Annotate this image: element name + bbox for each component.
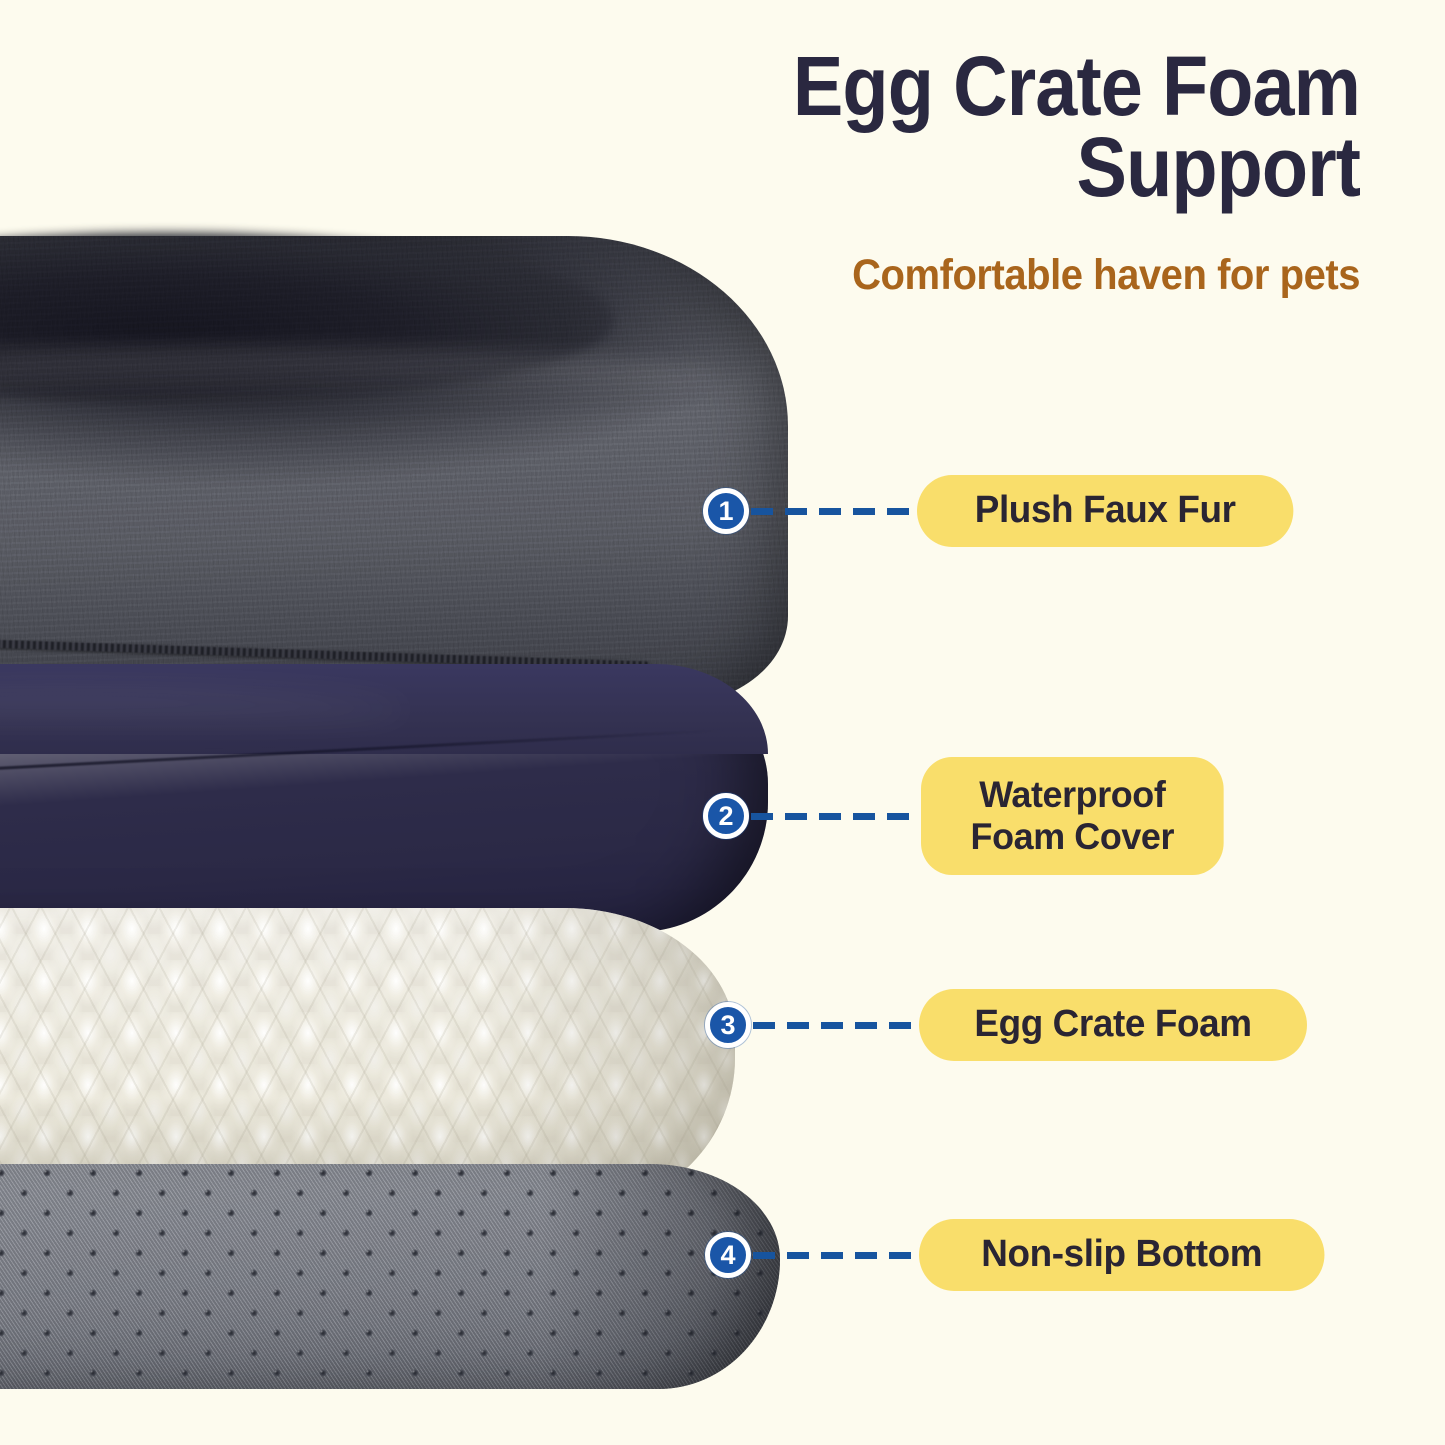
callout-badge-1: 1 — [703, 488, 749, 534]
callout-dashed-connector-4 — [753, 1252, 913, 1259]
product-layer-egg-crate-foam — [0, 908, 735, 1208]
callout-egg-crate-foam: 3 Egg Crate Foam — [705, 989, 1319, 1061]
callout-label-non-slip-bottom: Non-slip Bottom — [919, 1219, 1324, 1291]
callout-label-plush-faux-fur: Plush Faux Fur — [917, 475, 1293, 547]
page-title: Egg Crate Foam Support — [622, 46, 1360, 207]
callout-dashed-connector-1 — [751, 508, 911, 515]
product-layer-stack — [0, 236, 790, 1396]
callout-dashed-connector-3 — [753, 1022, 913, 1029]
infographic-canvas: Egg Crate Foam Support Comfortable haven… — [0, 0, 1445, 1445]
fur-rim-highlight — [0, 348, 720, 406]
product-layer-waterproof-cover — [0, 664, 768, 932]
callout-plush-faux-fur: 1 Plush Faux Fur — [703, 475, 1305, 547]
callout-badge-2: 2 — [703, 793, 749, 839]
callout-badge-4: 4 — [705, 1232, 751, 1278]
callout-non-slip-bottom: 4 Non-slip Bottom — [705, 1219, 1337, 1291]
callout-badge-3: 3 — [705, 1002, 751, 1048]
product-layer-non-slip-bottom — [0, 1164, 780, 1389]
page-subtitle: Comfortable haven for pets — [597, 251, 1360, 300]
header-block: Egg Crate Foam Support Comfortable haven… — [540, 46, 1360, 300]
callout-waterproof-foam-cover: 2 Waterproof Foam Cover — [703, 757, 1233, 875]
callout-dashed-connector-2 — [751, 813, 915, 820]
callout-label-egg-crate-foam: Egg Crate Foam — [919, 989, 1307, 1061]
callout-label-waterproof-foam-cover: Waterproof Foam Cover — [921, 757, 1224, 875]
product-layer-plush-fur — [0, 236, 788, 706]
